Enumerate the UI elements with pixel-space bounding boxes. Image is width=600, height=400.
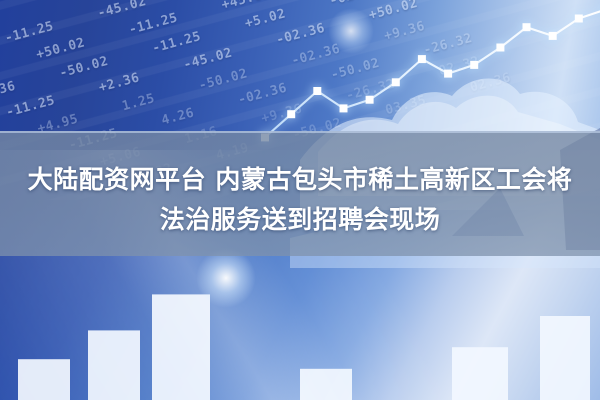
headline-line-2: 法治服务送到招聘会现场 <box>0 200 600 240</box>
headline-line-1: 大陆配资网平台 内蒙古包头市稀土高新区工会将 <box>0 160 600 200</box>
bar <box>300 369 352 400</box>
headline-band-topline <box>0 131 600 133</box>
bar <box>452 347 508 400</box>
bar <box>18 359 70 400</box>
financial-banner: -02.36-11.25-45.02-21.06+8.36-02.36+50.0… <box>0 0 600 400</box>
bottom-bar-chart <box>0 280 600 400</box>
bar <box>152 294 210 400</box>
page-title: 大陆配资网平台 内蒙古包头市稀土高新区工会将 法治服务送到招聘会现场 <box>0 160 600 240</box>
bar <box>540 316 590 400</box>
bar <box>88 330 140 400</box>
